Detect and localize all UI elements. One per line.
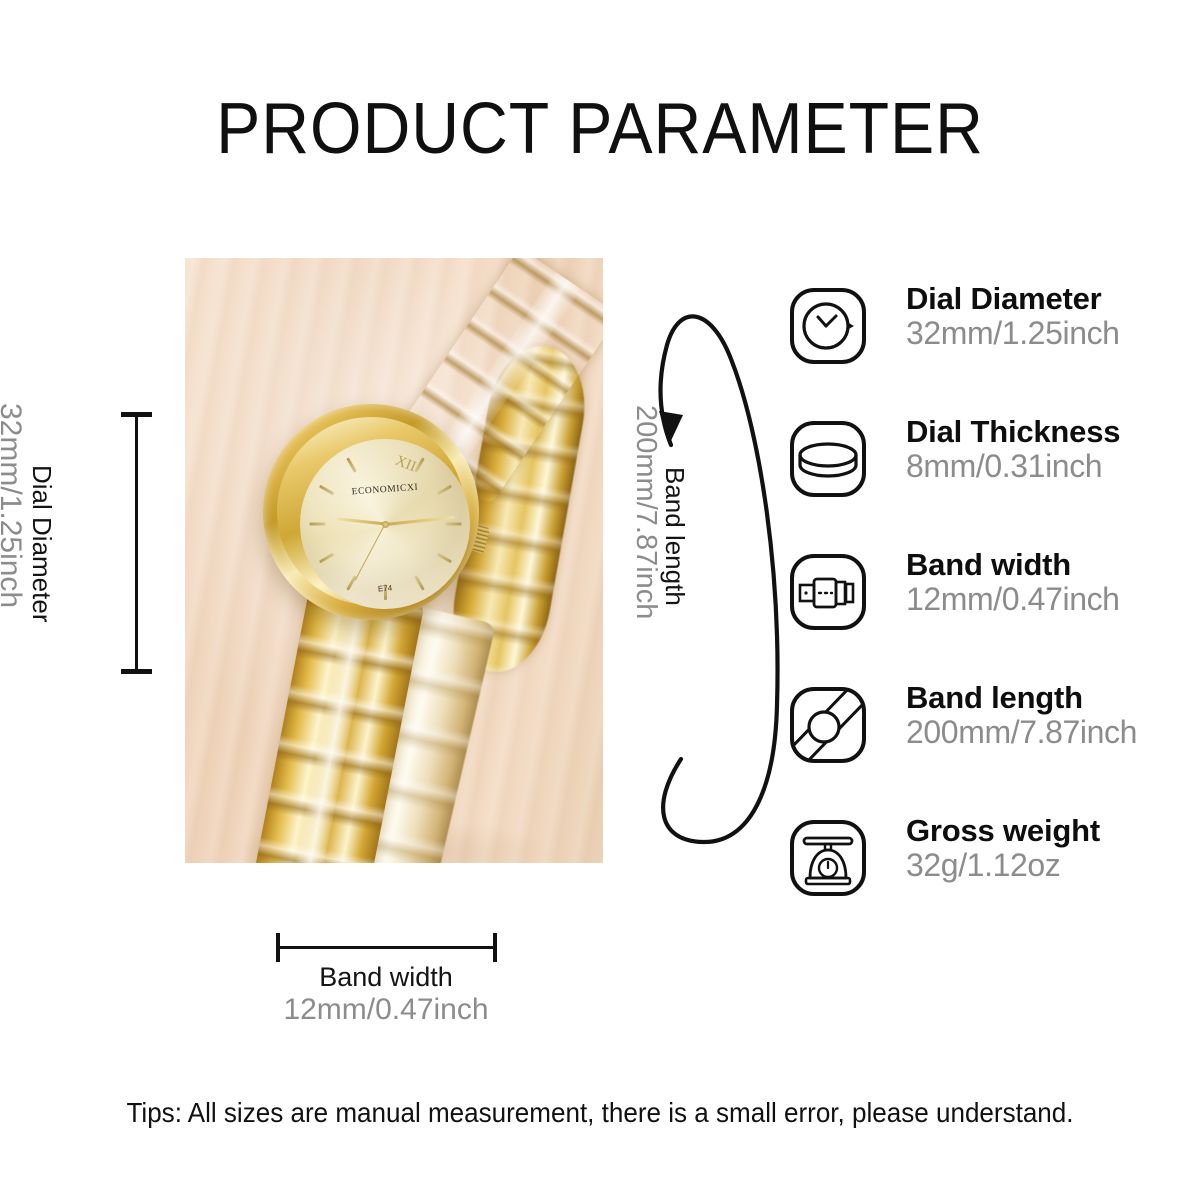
spec-value: 8mm/0.31inch — [906, 449, 1120, 484]
product-photo: XII ECONOMICXI E74 — [185, 258, 603, 863]
dial-diameter-callout-value: 32mm/1.25inch — [0, 403, 28, 693]
band-length-callout-text: Band length 200mm/7.87inch — [630, 405, 689, 619]
band-width-callout: Band width 12mm/0.47inch — [236, 962, 536, 1028]
spec-value: 200mm/7.87inch — [906, 715, 1137, 750]
spec-label: Dial Diameter — [906, 282, 1120, 315]
spec-row-band-width: Band width 12mm/0.47inch — [788, 552, 1188, 685]
hands-pin — [382, 521, 389, 528]
watch-case: XII ECONOMICXI E74 — [263, 404, 479, 620]
dial-diameter-callout-label: Dial Diameter — [26, 465, 57, 693]
watch-dial: XII ECONOMICXI E74 — [300, 439, 470, 609]
spec-label: Gross weight — [906, 814, 1100, 847]
spec-text-band-length: Band length 200mm/7.87inch — [906, 681, 1137, 750]
page-title: PRODUCT PARAMETER — [48, 88, 1152, 170]
strap-buckle-icon — [788, 552, 868, 632]
spec-value: 12mm/0.47inch — [906, 582, 1120, 617]
watch-dial-icon — [788, 286, 868, 366]
dial-diameter-callout: Dial Diameter 32mm/1.25inch — [0, 403, 57, 693]
spec-list: Dial Diameter 32mm/1.25inch Dial Thickne… — [788, 286, 1188, 951]
dial-diameter-dimension-line — [135, 415, 138, 671]
spec-text-band-width: Band width 12mm/0.47inch — [906, 548, 1120, 617]
band-length-callout: Band length 200mm/7.87inch — [645, 285, 790, 845]
band-width-dimension-line — [276, 946, 496, 949]
spec-label: Band width — [906, 548, 1120, 581]
spec-row-gross-weight: Gross weight 32g/1.12oz — [788, 818, 1188, 951]
band-length-callout-label: Band length — [660, 467, 689, 619]
dial-marker — [445, 523, 461, 526]
spec-value: 32g/1.12oz — [906, 848, 1100, 883]
band-length-callout-value: 200mm/7.87inch — [630, 405, 662, 619]
spec-label: Band length — [906, 681, 1137, 714]
tips-text: Tips: All sizes are manual measurement, … — [42, 1097, 1158, 1129]
disc-thickness-icon — [788, 419, 868, 499]
spec-value: 32mm/1.25inch — [906, 316, 1120, 351]
kitchen-scale-icon — [788, 818, 868, 898]
band-width-dimension-cap-right — [493, 933, 497, 962]
spec-text-dial-thickness: Dial Thickness 8mm/0.31inch — [906, 415, 1120, 484]
spec-text-gross-weight: Gross weight 32g/1.12oz — [906, 814, 1100, 883]
dial-diameter-dimension-cap-bottom — [121, 669, 152, 674]
watch-bezel: XII ECONOMICXI E74 — [277, 417, 465, 605]
band-width-callout-label: Band width — [236, 962, 536, 993]
watch-band-icon — [788, 685, 868, 765]
spec-row-band-length: Band length 200mm/7.87inch — [788, 685, 1188, 818]
band-width-callout-value: 12mm/0.47inch — [236, 993, 536, 1028]
spec-text-dial-diameter: Dial Diameter 32mm/1.25inch — [906, 282, 1120, 351]
spec-label: Dial Thickness — [906, 415, 1120, 448]
spec-row-dial-thickness: Dial Thickness 8mm/0.31inch — [788, 419, 1188, 552]
spec-row-dial-diameter: Dial Diameter 32mm/1.25inch — [788, 286, 1188, 419]
dial-marker — [309, 523, 325, 526]
